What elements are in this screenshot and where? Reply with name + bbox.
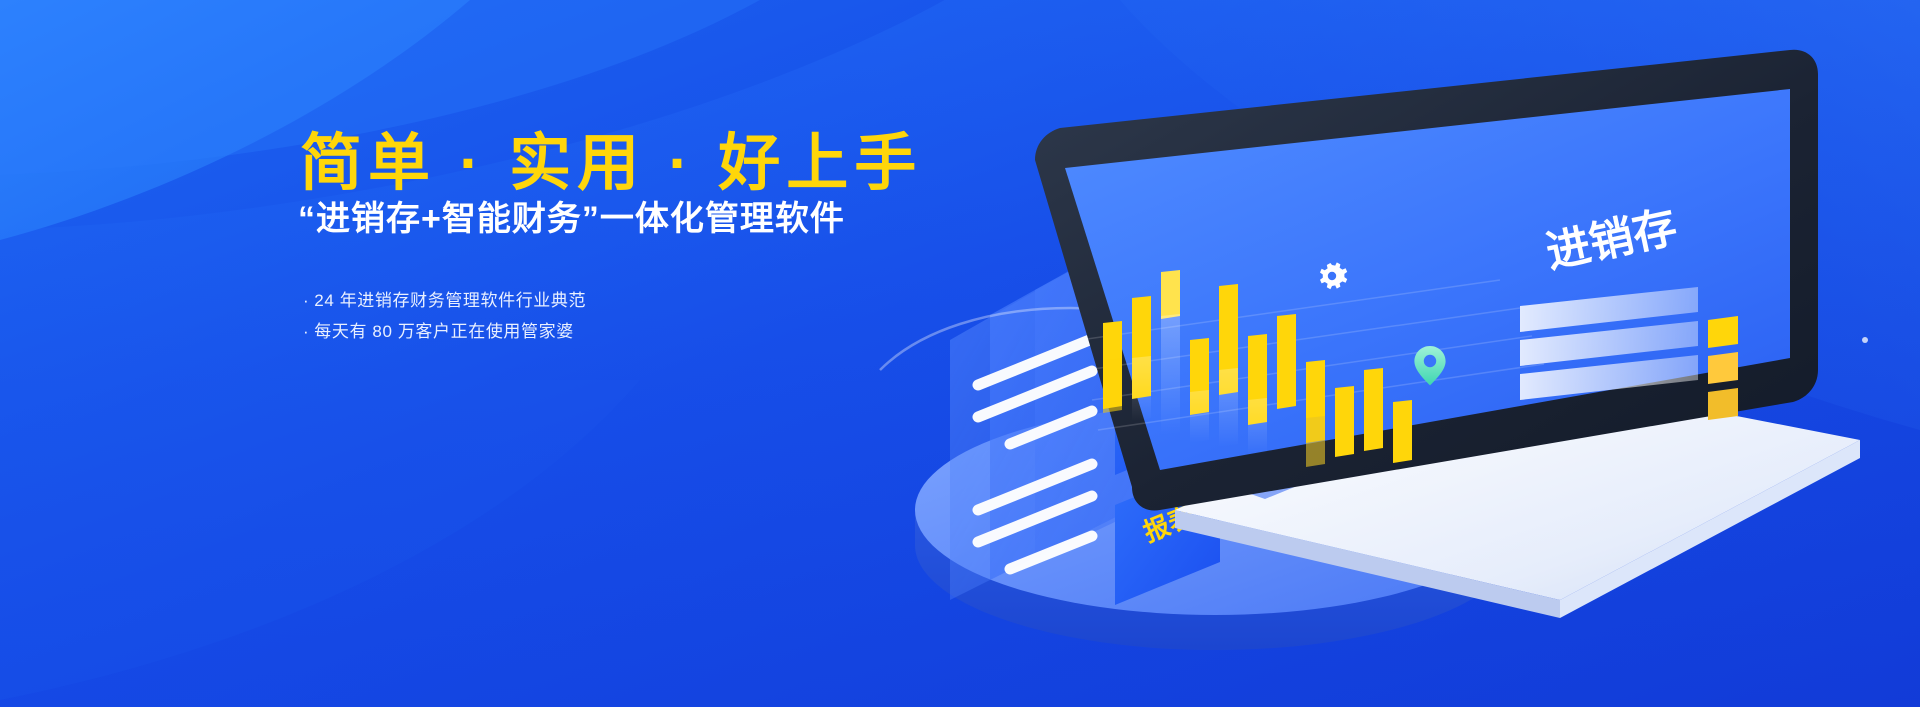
bullet-marker-icon: · (303, 322, 309, 341)
isometric-laptop-illustration: 财务 报表 (860, 40, 1920, 707)
list-item: ·每天有 80 万客户正在使用管家婆 (303, 319, 586, 345)
screen-status-swatches (1708, 316, 1738, 420)
bullet-marker-icon: · (303, 291, 309, 310)
list-item: ·24 年进销存财务管理软件行业典范 (303, 288, 586, 314)
page-subtitle: “进销存+智能财务”一体化管理软件 (298, 202, 845, 238)
feature-bullet-list: ·24 年进销存财务管理软件行业典范 ·每天有 80 万客户正在使用管家婆 (303, 288, 586, 350)
hero-banner: 简单 · 实用 · 好上手 “进销存+智能财务”一体化管理软件 ·24 年进销存… (0, 0, 1920, 707)
copy-block: 简单 · 实用 · 好上手 “进销存+智能财务”一体化管理软件 ·24 年进销存… (0, 0, 1000, 707)
page-title: 简单 · 实用 · 好上手 (300, 133, 922, 195)
list-item-label: 每天有 80 万客户正在使用管家婆 (314, 322, 574, 341)
list-item-label: 24 年进销存财务管理软件行业典范 (314, 291, 586, 310)
sparkle-dot-icon (1862, 337, 1868, 343)
